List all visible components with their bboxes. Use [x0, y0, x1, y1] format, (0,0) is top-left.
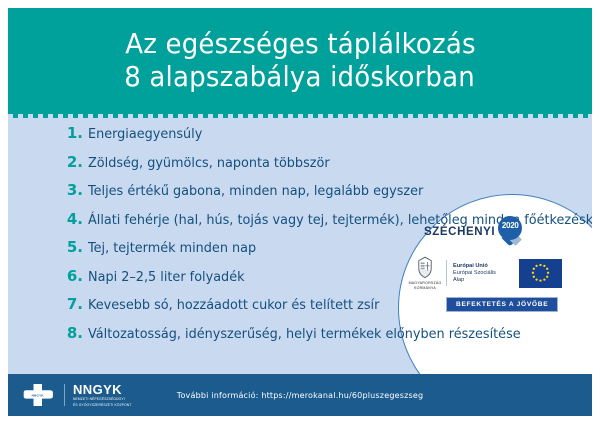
eu-funding-caption: Európai Unió Európai Szociális Alap: [453, 263, 515, 284]
szechenyi-year: 2020: [498, 221, 522, 230]
list-item-text: Tej, tejtermék minden nap: [88, 240, 256, 256]
page-title-line-1: Az egészséges táplálkozás: [125, 27, 476, 60]
more-info-text: További információ: https://merokanal.hu…: [8, 391, 592, 400]
list-item-text: Energiaegyensúly: [88, 126, 202, 142]
list-item-text: Teljes értékű gabona, minden nap, legalá…: [88, 183, 423, 199]
page-title-line-2: 8 alapszabálya időskorban: [125, 60, 476, 93]
poster-footer: NNGYK NNGYK NEMZETI NÉPEGÉSZSÉGÜGYI ÉS G…: [8, 374, 592, 416]
european-union-flag-icon: [519, 259, 562, 288]
list-item-text: Kevesebb só, hozzáadott cukor és telítet…: [88, 297, 379, 313]
list-item-number: 6.: [66, 267, 83, 285]
list-item-number: 2.: [66, 153, 83, 171]
list-item-text: Napi 2–2,5 liter folyadék: [88, 269, 245, 285]
logo-divider: [446, 260, 447, 286]
szechenyi-wordmark: SZÉCHENYI: [424, 226, 495, 238]
eu-caption-line-3: Alap: [453, 277, 515, 284]
nngyk-subtitle-line-2: ÉS GYÓGYSZERÉSZETI KÖZPONT: [73, 403, 132, 407]
poster-canvas: Az egészséges táplálkozás 8 alapszabálya…: [8, 8, 592, 416]
hungary-government-logo: MAGYARORSZÁG KORMÁNYA: [410, 256, 440, 290]
list-item-number: 5.: [66, 238, 83, 256]
list-item-text: Változatosság, idényszerűség, helyi term…: [88, 326, 521, 342]
balloon-pin-icon: 2020: [498, 216, 522, 247]
investing-in-the-future-banner: BEFEKTETÉS A JÖVŐBE: [446, 297, 558, 312]
list-item: 3. Teljes értékű gabona, minden nap, leg…: [8, 181, 592, 210]
list-item-number: 3.: [66, 181, 83, 199]
list-item: 2. Zöldség, gyümölcs, naponta többször: [8, 153, 592, 182]
szechenyi-2020-logo: SZÉCHENYI 2020: [424, 216, 522, 247]
poster-header: Az egészséges táplálkozás 8 alapszabálya…: [8, 8, 592, 118]
list-item: 1. Energiaegyensúly: [8, 124, 592, 153]
list-item-number: 1.: [66, 124, 83, 142]
list-item: 8. Változatosság, idényszerűség, helyi t…: [8, 324, 592, 353]
eu-caption-line-1: Európai Unió: [453, 263, 515, 270]
scalloped-divider-fill: [8, 118, 592, 122]
eu-funding-row: MAGYARORSZÁG KORMÁNYA Európai Unió Európ…: [410, 256, 562, 290]
eu-caption-line-2: Európai Szociális: [453, 270, 515, 277]
funding-logo-stack: SZÉCHENYI 2020 MAGYARORSZÁG KORMÁNYA: [410, 216, 586, 312]
list-item-number: 4.: [66, 210, 83, 228]
hungarian-coat-of-arms-icon: [416, 256, 434, 279]
list-item-text: Zöldség, gyümölcs, naponta többször: [88, 155, 330, 171]
crest-caption: MAGYARORSZÁG KORMÁNYA: [409, 281, 442, 290]
list-item-number: 8.: [66, 324, 83, 342]
list-item-number: 7.: [66, 295, 83, 313]
